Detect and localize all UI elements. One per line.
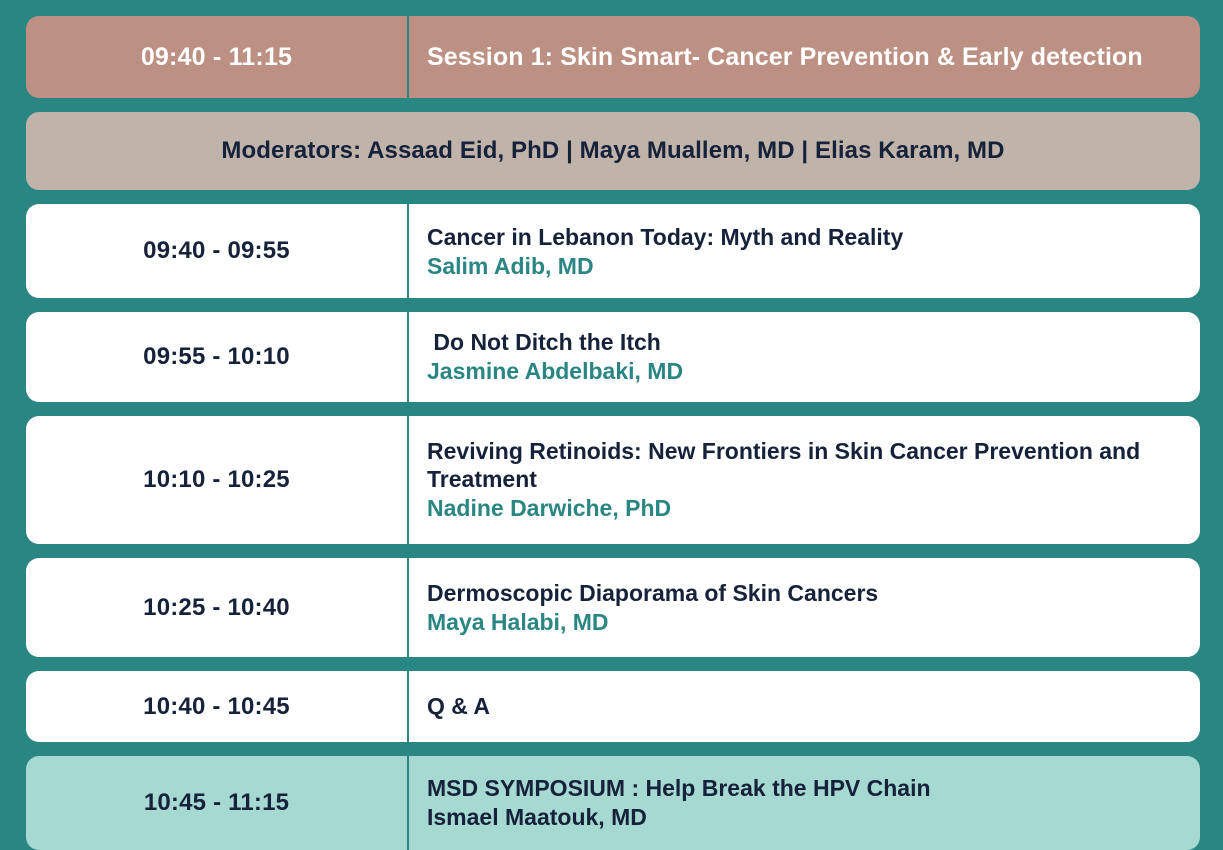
agenda-row-body: Dermoscopic Diaporama of Skin Cancers Ma… <box>409 558 1200 657</box>
agenda-row-title: Dermoscopic Diaporama of Skin Cancers <box>427 579 1186 607</box>
agenda-row-speaker: Jasmine Abdelbaki, MD <box>427 357 1186 385</box>
session-header-time: 09:40 - 11:15 <box>26 16 407 98</box>
agenda-row: 09:40 - 09:55 Cancer in Lebanon Today: M… <box>26 204 1200 298</box>
agenda-row-body: Q & A <box>409 671 1200 742</box>
moderators-band: Moderators: Assaad Eid, PhD | Maya Muall… <box>26 112 1200 190</box>
session-header-title: Session 1: Skin Smart- Cancer Prevention… <box>409 16 1200 98</box>
agenda-row-body: Cancer in Lebanon Today: Myth and Realit… <box>409 204 1200 298</box>
agenda-row: 09:55 - 10:10 Do Not Ditch the Itch Jasm… <box>26 312 1200 401</box>
agenda-row-body: Do Not Ditch the Itch Jasmine Abdelbaki,… <box>409 312 1200 401</box>
agenda-row-time: 09:40 - 09:55 <box>26 204 407 298</box>
agenda-row-title: Cancer in Lebanon Today: Myth and Realit… <box>427 223 1186 251</box>
agenda-row-time: 10:25 - 10:40 <box>26 558 407 657</box>
agenda-row-title: Reviving Retinoids: New Frontiers in Ski… <box>427 437 1186 493</box>
agenda-row-time: 09:55 - 10:10 <box>26 312 407 401</box>
agenda-row-speaker: Nadine Darwiche, PhD <box>427 494 1186 522</box>
agenda-row: 10:40 - 10:45 Q & A <box>26 671 1200 742</box>
agenda-row-title: MSD SYMPOSIUM : Help Break the HPV Chain <box>427 774 1186 802</box>
agenda-row-speaker: Maya Halabi, MD <box>427 608 1186 636</box>
agenda-row-highlighted: 10:45 - 11:15 MSD SYMPOSIUM : Help Break… <box>26 756 1200 850</box>
agenda-row-title: Q & A <box>427 692 1186 720</box>
session-header-row: 09:40 - 11:15 Session 1: Skin Smart- Can… <box>26 16 1200 98</box>
agenda-row-time: 10:10 - 10:25 <box>26 416 407 545</box>
agenda-row-time: 10:45 - 11:15 <box>26 756 407 850</box>
agenda-row-title: Do Not Ditch the Itch <box>427 328 1186 356</box>
session-agenda: 09:40 - 11:15 Session 1: Skin Smart- Can… <box>0 0 1223 850</box>
agenda-row: 10:10 - 10:25 Reviving Retinoids: New Fr… <box>26 416 1200 545</box>
agenda-row-time: 10:40 - 10:45 <box>26 671 407 742</box>
agenda-row-body: MSD SYMPOSIUM : Help Break the HPV Chain… <box>409 756 1200 850</box>
agenda-row: 10:25 - 10:40 Dermoscopic Diaporama of S… <box>26 558 1200 657</box>
agenda-row-speaker: Ismael Maatouk, MD <box>427 803 1186 831</box>
agenda-row-speaker: Salim Adib, MD <box>427 252 1186 280</box>
agenda-row-body: Reviving Retinoids: New Frontiers in Ski… <box>409 416 1200 545</box>
